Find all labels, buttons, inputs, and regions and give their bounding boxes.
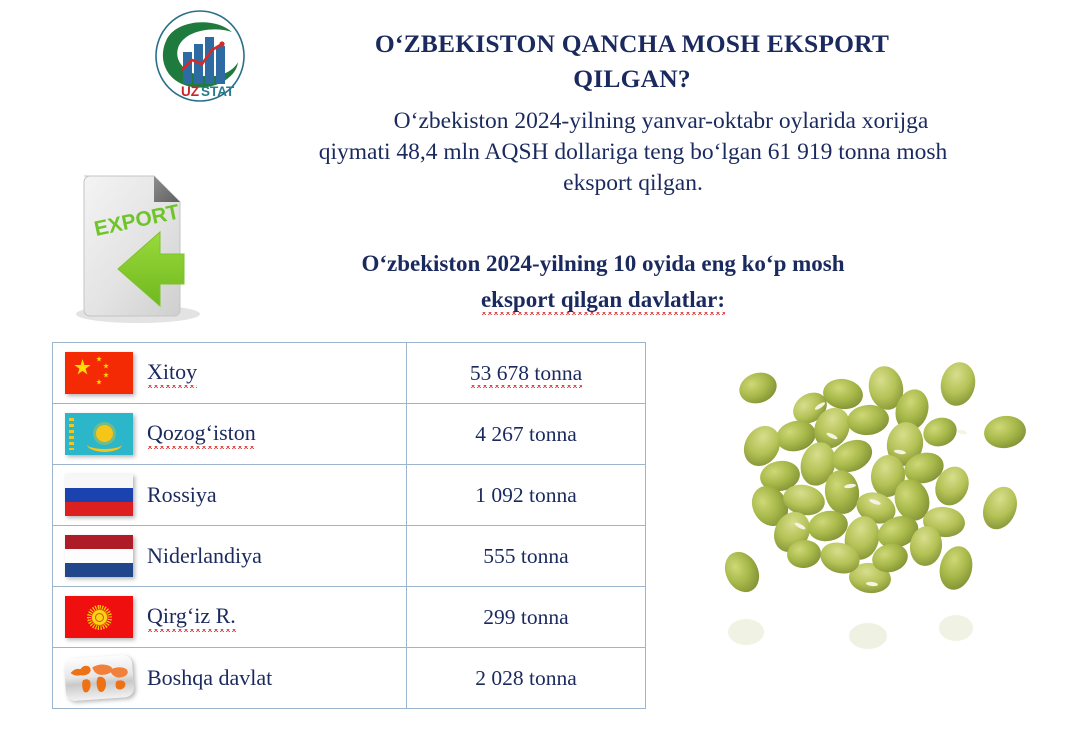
table-cell-value: 4 267 tonna [407, 404, 646, 465]
page-title: O‘ZBEKISTON QANCHA MOSH EKSPORT QILGAN? [282, 26, 982, 96]
country-label: Xitoy [147, 359, 197, 388]
table-cell-country: Xitoy [53, 343, 407, 404]
uzstat-logo: UZ STAT [152, 8, 248, 104]
country-label: Niderlandiya [147, 543, 262, 569]
intro-line-2: qiymati 48,4 mln AQSH dollariga teng bo‘… [258, 137, 1008, 168]
export-document-graphic: EXPORT [66, 168, 216, 328]
export-countries-table: Xitoy 53 678 tonna Qozog‘iston 4 267 ton… [52, 342, 646, 709]
uzstat-logo-graphic: UZ STAT [152, 8, 248, 104]
export-document-icon: EXPORT [66, 168, 216, 328]
page-title-line2: QILGAN? [282, 61, 982, 96]
logo-text-stat: STAT [201, 84, 235, 99]
world-map-icon [64, 655, 135, 702]
flag-kyrgyzstan-icon [65, 596, 133, 638]
section-heading-line2: eksport qilgan davlatlar: [481, 287, 725, 315]
table-cell-country: Rossiya [53, 465, 407, 526]
intro-line-1: O‘zbekiston 2024-yilning yanvar-oktabr o… [258, 106, 1008, 137]
country-label: Qirg‘iz R. [147, 603, 236, 632]
mung-bean-photo-graphic [700, 336, 1055, 688]
flag-netherlands-icon [65, 535, 133, 577]
value-label: 4 267 tonna [475, 422, 577, 446]
value-label: 555 tonna [483, 544, 568, 568]
page-title-line1: O‘ZBEKISTON QANCHA MOSH EKSPORT [282, 26, 982, 61]
intro-line-3: eksport qilgan. [258, 168, 1008, 199]
table-cell-country: Niderlandiya [53, 526, 407, 587]
value-label: 299 tonna [483, 605, 568, 629]
logo-text-uz: UZ [181, 84, 199, 99]
table-cell-country: Qirg‘iz R. [53, 587, 407, 648]
flag-russia-icon [65, 474, 133, 516]
flag-china-icon [65, 352, 133, 394]
table-cell-value: 53 678 tonna [407, 343, 646, 404]
flag-kazakhstan-icon [65, 413, 133, 455]
table-cell-value: 2 028 tonna [407, 648, 646, 709]
country-label: Rossiya [147, 482, 217, 508]
table-cell-value: 1 092 tonna [407, 465, 646, 526]
section-heading-line1: O‘zbekiston 2024-yilning 10 oyida eng ko… [278, 246, 928, 282]
section-heading: O‘zbekiston 2024-yilning 10 oyida eng ko… [278, 246, 928, 318]
table-row[interactable]: Qirg‘iz R. 299 tonna [53, 587, 646, 648]
table-row[interactable]: Boshqa davlat 2 028 tonna [53, 648, 646, 709]
table-cell-value: 299 tonna [407, 587, 646, 648]
table-cell-country: Boshqa davlat [53, 648, 407, 709]
table-row[interactable]: Rossiya 1 092 tonna [53, 465, 646, 526]
country-label: Boshqa davlat [147, 665, 272, 691]
table-cell-value: 555 tonna [407, 526, 646, 587]
mung-bean-photo [700, 336, 1055, 688]
value-label: 1 092 tonna [475, 483, 577, 507]
table-cell-country: Qozog‘iston [53, 404, 407, 465]
table-row[interactable]: Qozog‘iston 4 267 tonna [53, 404, 646, 465]
table-row[interactable]: Xitoy 53 678 tonna [53, 343, 646, 404]
value-label: 53 678 tonna [470, 361, 582, 388]
country-label: Qozog‘iston [147, 420, 256, 449]
intro-paragraph: O‘zbekiston 2024-yilning yanvar-oktabr o… [258, 106, 1008, 199]
value-label: 2 028 tonna [475, 666, 577, 690]
table-row[interactable]: Niderlandiya 555 tonna [53, 526, 646, 587]
